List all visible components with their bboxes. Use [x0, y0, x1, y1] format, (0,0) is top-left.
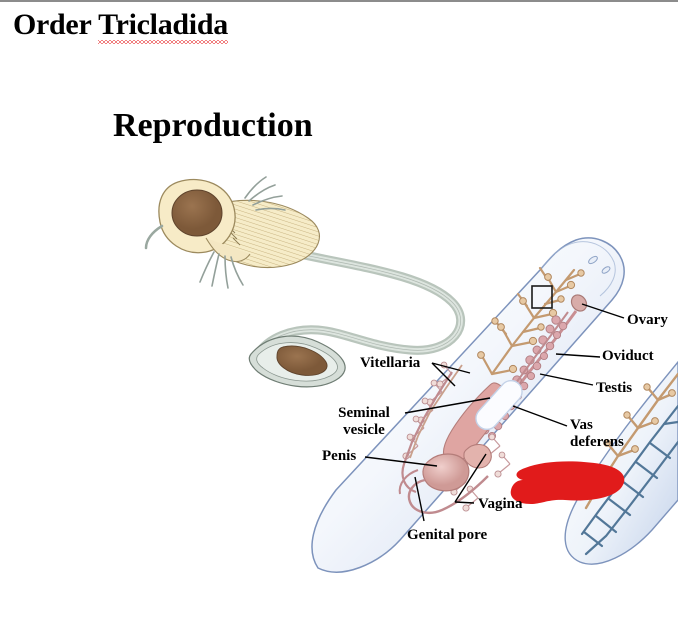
page-title-prefix: Order — [13, 8, 98, 41]
inset-detail-box — [532, 286, 552, 308]
page-title: Order Tricladida — [13, 8, 228, 42]
label-vitellaria: Vitellaria — [360, 355, 420, 372]
label-testis: Testis — [596, 380, 632, 397]
label-vas-deferens: Vas deferens — [570, 417, 632, 451]
section-heading-reproduction: Reproduction — [113, 107, 313, 145]
label-penis: Penis — [322, 448, 356, 465]
slide-canvas: Order Tricladida Reproduction — [0, 0, 678, 618]
label-seminal-vesicle: Seminal vesicle — [326, 405, 402, 439]
label-genital-pore: Genital pore — [407, 527, 487, 544]
figure-artwork — [0, 2, 678, 618]
label-oviduct: Oviduct — [602, 348, 654, 365]
leader-lines — [365, 304, 624, 521]
page-title-misspelled-word: Tricladida — [98, 8, 228, 42]
label-vagina: Vagina — [478, 496, 522, 513]
red-marker-annotation — [505, 454, 630, 512]
label-ovary: Ovary — [627, 312, 668, 329]
